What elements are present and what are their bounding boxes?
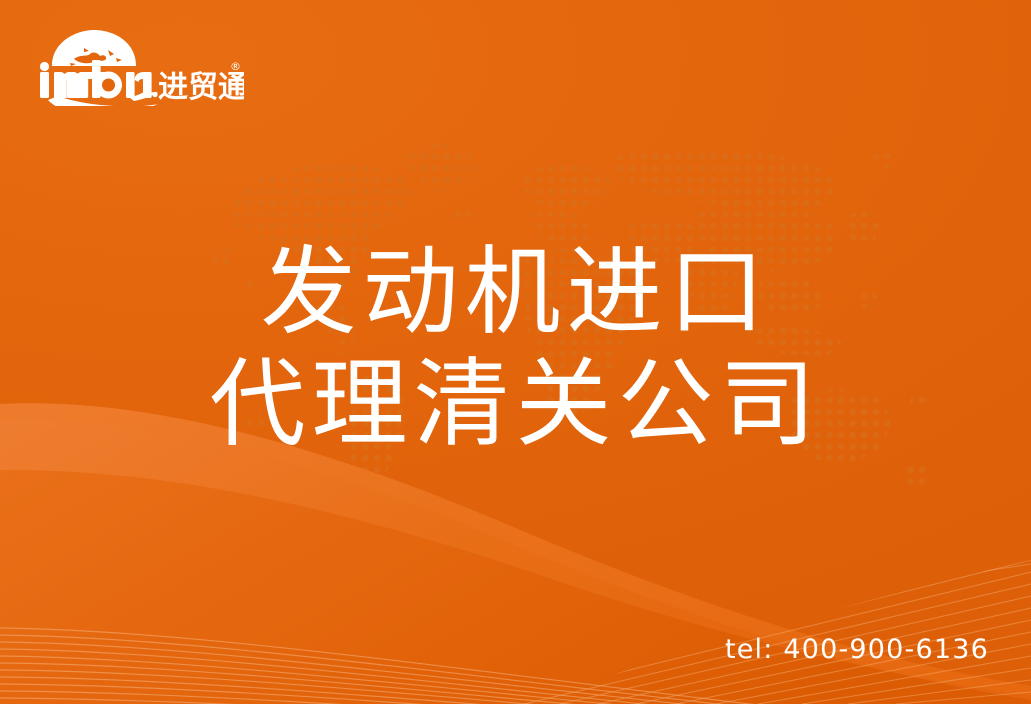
telephone-text[interactable]: tel: 400-900-6136 (725, 634, 989, 665)
logo-wordmark-chinese: 进贸通 (158, 70, 244, 105)
headline-line-1: 发动机进口 (0, 236, 1031, 348)
trademark-icon: ® (230, 60, 241, 73)
headline-line-2: 代理清关公司 (0, 348, 1031, 460)
banner-canvas: 进贸通 ® 发动机进口 代理清关公司 tel: 400-900-6136 (0, 0, 1031, 704)
imton-logo[interactable]: 进贸通 ® (34, 26, 244, 106)
headline: 发动机进口 代理清关公司 (0, 236, 1031, 460)
